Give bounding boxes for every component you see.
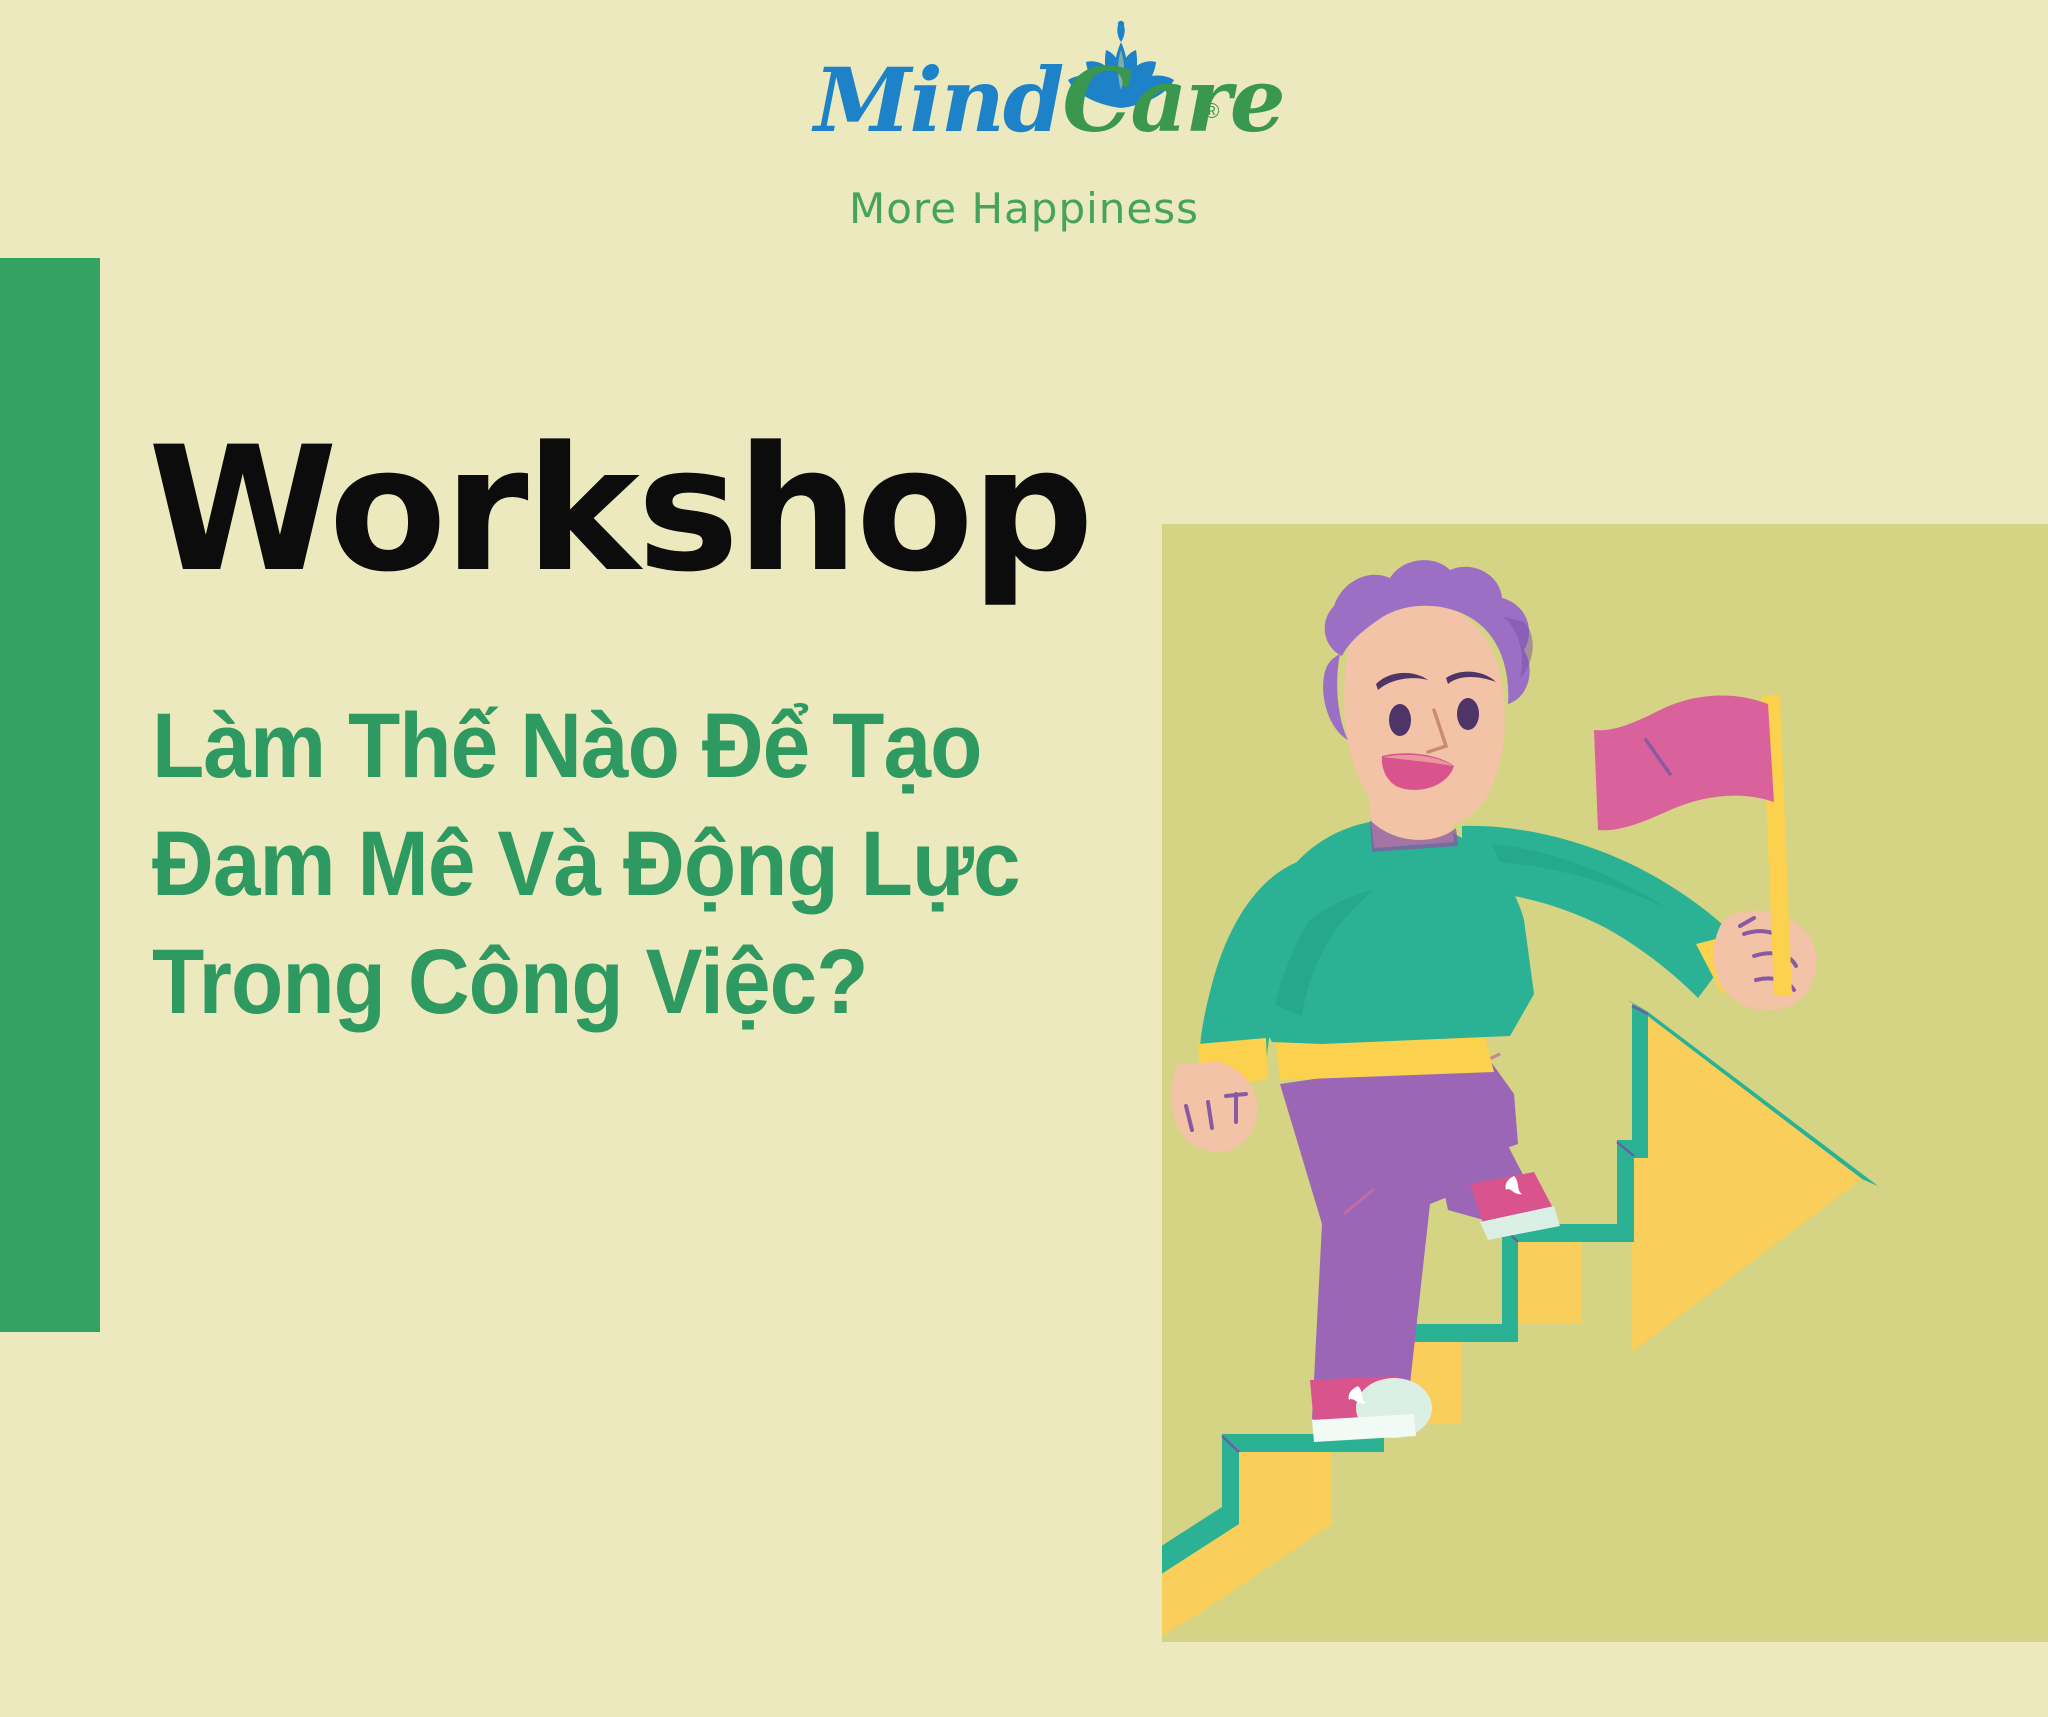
subtitle-line-1: Làm Thế Nào Để Tạo — [152, 688, 1008, 806]
person-right-fist — [1714, 911, 1817, 1011]
subtitle-line-2: Đam Mê Và Động Lực — [152, 806, 1008, 924]
brand-wordmark: MindCare — [814, 56, 1234, 144]
subtitle-block: Làm Thế Nào Để Tạo Đam Mê Và Động Lực Tr… — [152, 688, 1008, 1041]
subtitle-line-3: Trong Công Việc? — [152, 924, 1008, 1042]
person-eye-left — [1389, 704, 1411, 736]
page-title: Workshop — [148, 424, 1091, 596]
poster-canvas: MindCare ® More Happiness Workshop Làm T… — [0, 0, 2048, 1717]
flag-banner — [1594, 695, 1774, 830]
illustration-panel — [1162, 524, 2048, 1642]
person-climbing-arrow-illustration — [1162, 524, 2048, 1642]
brand-tagline: More Happiness — [849, 184, 1199, 233]
person-face — [1344, 601, 1505, 829]
person-figure — [1171, 560, 1816, 1442]
green-accent-bar — [0, 258, 100, 1332]
arrow-staircase-icon — [1162, 1000, 1878, 1642]
person-back-shoe — [1310, 1376, 1432, 1442]
brand-logo: MindCare ® More Happiness — [0, 18, 2048, 233]
person-eye-right — [1457, 698, 1479, 730]
registered-trademark-symbol: ® — [1204, 100, 1219, 124]
brand-name-care: Care — [1062, 48, 1283, 152]
brand-name-mind: Mind — [814, 48, 1062, 152]
logo-mark-row: MindCare ® — [814, 18, 1234, 168]
